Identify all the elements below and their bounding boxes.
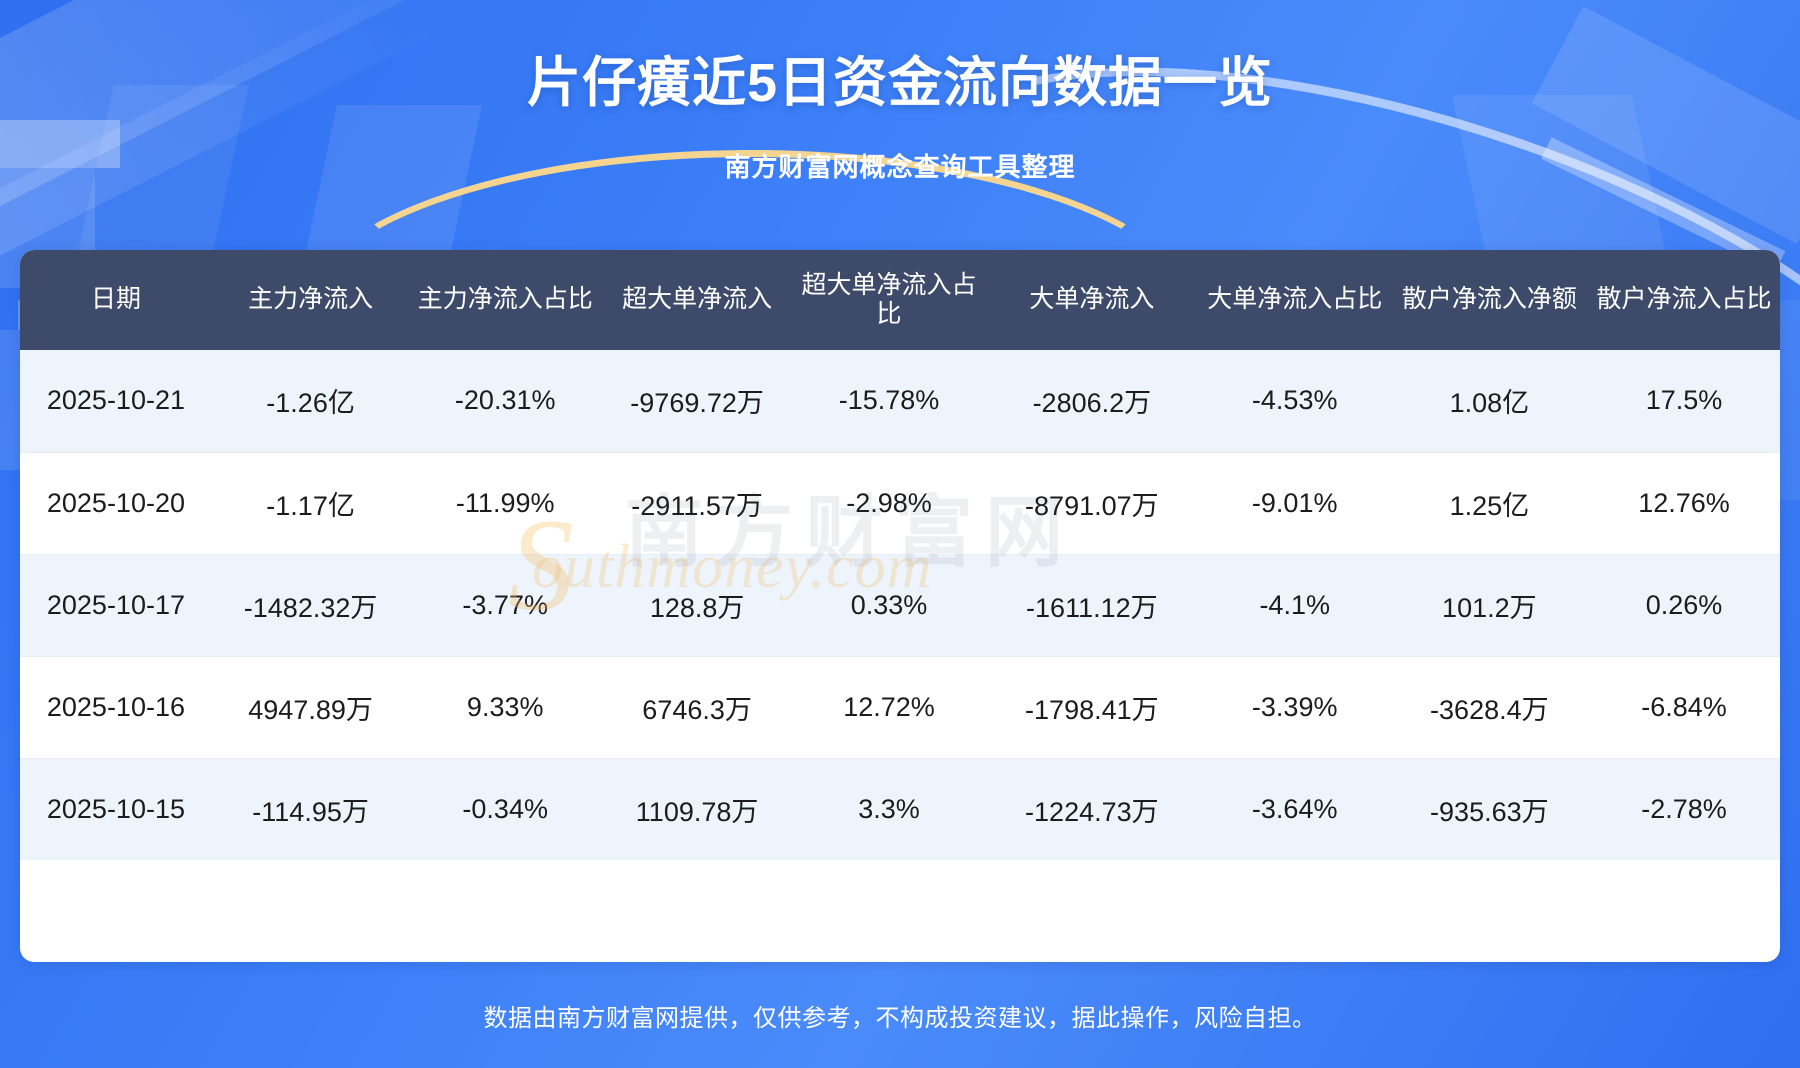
cell-large-pct: -4.1% xyxy=(1199,554,1391,656)
cell-main-net: -1482.32万 xyxy=(212,554,409,656)
cell-date: 2025-10-21 xyxy=(20,350,212,452)
fund-flow-table: 日期 主力净流入 主力净流入占比 超大单净流入 超大单净流入占比 大单净流入 大… xyxy=(20,250,1780,860)
cell-main-net: -1.26亿 xyxy=(212,350,409,452)
cell-main-pct: -20.31% xyxy=(409,350,601,452)
page-footer: 数据由南方财富网提供，仅供参考，不构成投资建议，据此操作，风险自担。 xyxy=(0,962,1800,1068)
cell-retail-net: 1.08亿 xyxy=(1391,350,1588,452)
column-header-main-net-inflow: 主力净流入 xyxy=(212,250,409,350)
cell-date: 2025-10-15 xyxy=(20,758,212,860)
cell-large-net: -8791.07万 xyxy=(985,452,1199,554)
cell-xl-pct: -2.98% xyxy=(793,452,985,554)
cell-retail-pct: 12.76% xyxy=(1588,452,1780,554)
cell-main-pct: 9.33% xyxy=(409,656,601,758)
page-title: 片仔癀近5日资金流向数据一览 xyxy=(0,0,1800,117)
cell-date: 2025-10-20 xyxy=(20,452,212,554)
column-header-retail-net-amount: 散户净流入净额 xyxy=(1391,250,1588,350)
cell-large-pct: -9.01% xyxy=(1199,452,1391,554)
disclaimer-text: 数据由南方财富网提供，仅供参考，不构成投资建议，据此操作，风险自担。 xyxy=(484,998,1317,1033)
table-header-row: 日期 主力净流入 主力净流入占比 超大单净流入 超大单净流入占比 大单净流入 大… xyxy=(20,250,1780,350)
column-header-date: 日期 xyxy=(20,250,212,350)
cell-large-pct: -4.53% xyxy=(1199,350,1391,452)
cell-main-net: 4947.89万 xyxy=(212,656,409,758)
cell-main-pct: -11.99% xyxy=(409,452,601,554)
cell-large-pct: -3.64% xyxy=(1199,758,1391,860)
cell-date: 2025-10-17 xyxy=(20,554,212,656)
column-header-large-net-inflow-pct: 大单净流入占比 xyxy=(1199,250,1391,350)
table-row: 2025-10-16 4947.89万 9.33% 6746.3万 12.72%… xyxy=(20,656,1780,758)
cell-main-net: -114.95万 xyxy=(212,758,409,860)
table-row: 2025-10-15 -114.95万 -0.34% 1109.78万 3.3%… xyxy=(20,758,1780,860)
table-body: 2025-10-21 -1.26亿 -20.31% -9769.72万 -15.… xyxy=(20,350,1780,860)
cell-main-pct: -0.34% xyxy=(409,758,601,860)
cell-main-pct: -3.77% xyxy=(409,554,601,656)
cell-retail-net: -3628.4万 xyxy=(1391,656,1588,758)
table-row: 2025-10-17 -1482.32万 -3.77% 128.8万 0.33%… xyxy=(20,554,1780,656)
cell-retail-net: 101.2万 xyxy=(1391,554,1588,656)
cell-main-net: -1.17亿 xyxy=(212,452,409,554)
cell-large-pct: -3.39% xyxy=(1199,656,1391,758)
cell-xl-net: -2911.57万 xyxy=(601,452,793,554)
column-header-large-net-inflow: 大单净流入 xyxy=(985,250,1199,350)
cell-xl-net: -9769.72万 xyxy=(601,350,793,452)
cell-xl-pct: 0.33% xyxy=(793,554,985,656)
cell-large-net: -1224.73万 xyxy=(985,758,1199,860)
cell-retail-pct: -2.78% xyxy=(1588,758,1780,860)
column-header-main-net-inflow-pct: 主力净流入占比 xyxy=(409,250,601,350)
cell-date: 2025-10-16 xyxy=(20,656,212,758)
cell-retail-pct: -6.84% xyxy=(1588,656,1780,758)
cell-xl-pct: 3.3% xyxy=(793,758,985,860)
cell-retail-net: 1.25亿 xyxy=(1391,452,1588,554)
cell-large-net: -1611.12万 xyxy=(985,554,1199,656)
cell-xl-pct: 12.72% xyxy=(793,656,985,758)
cell-retail-net: -935.63万 xyxy=(1391,758,1588,860)
page-subtitle: 南方财富网概念查询工具整理 xyxy=(0,117,1800,184)
data-table-card: 日期 主力净流入 主力净流入占比 超大单净流入 超大单净流入占比 大单净流入 大… xyxy=(20,250,1780,962)
cell-retail-pct: 0.26% xyxy=(1588,554,1780,656)
table-row: 2025-10-20 -1.17亿 -11.99% -2911.57万 -2.9… xyxy=(20,452,1780,554)
cell-large-net: -2806.2万 xyxy=(985,350,1199,452)
cell-xl-net: 128.8万 xyxy=(601,554,793,656)
column-header-xl-net-inflow: 超大单净流入 xyxy=(601,250,793,350)
column-header-retail-net-pct: 散户净流入占比 xyxy=(1588,250,1780,350)
column-header-xl-net-inflow-pct: 超大单净流入占比 xyxy=(793,250,985,350)
cell-large-net: -1798.41万 xyxy=(985,656,1199,758)
cell-xl-net: 1109.78万 xyxy=(601,758,793,860)
cell-xl-pct: -15.78% xyxy=(793,350,985,452)
cell-retail-pct: 17.5% xyxy=(1588,350,1780,452)
cell-xl-net: 6746.3万 xyxy=(601,656,793,758)
table-row: 2025-10-21 -1.26亿 -20.31% -9769.72万 -15.… xyxy=(20,350,1780,452)
page-header: 片仔癀近5日资金流向数据一览 南方财富网概念查询工具整理 xyxy=(0,0,1800,250)
table-head: 日期 主力净流入 主力净流入占比 超大单净流入 超大单净流入占比 大单净流入 大… xyxy=(20,250,1780,350)
